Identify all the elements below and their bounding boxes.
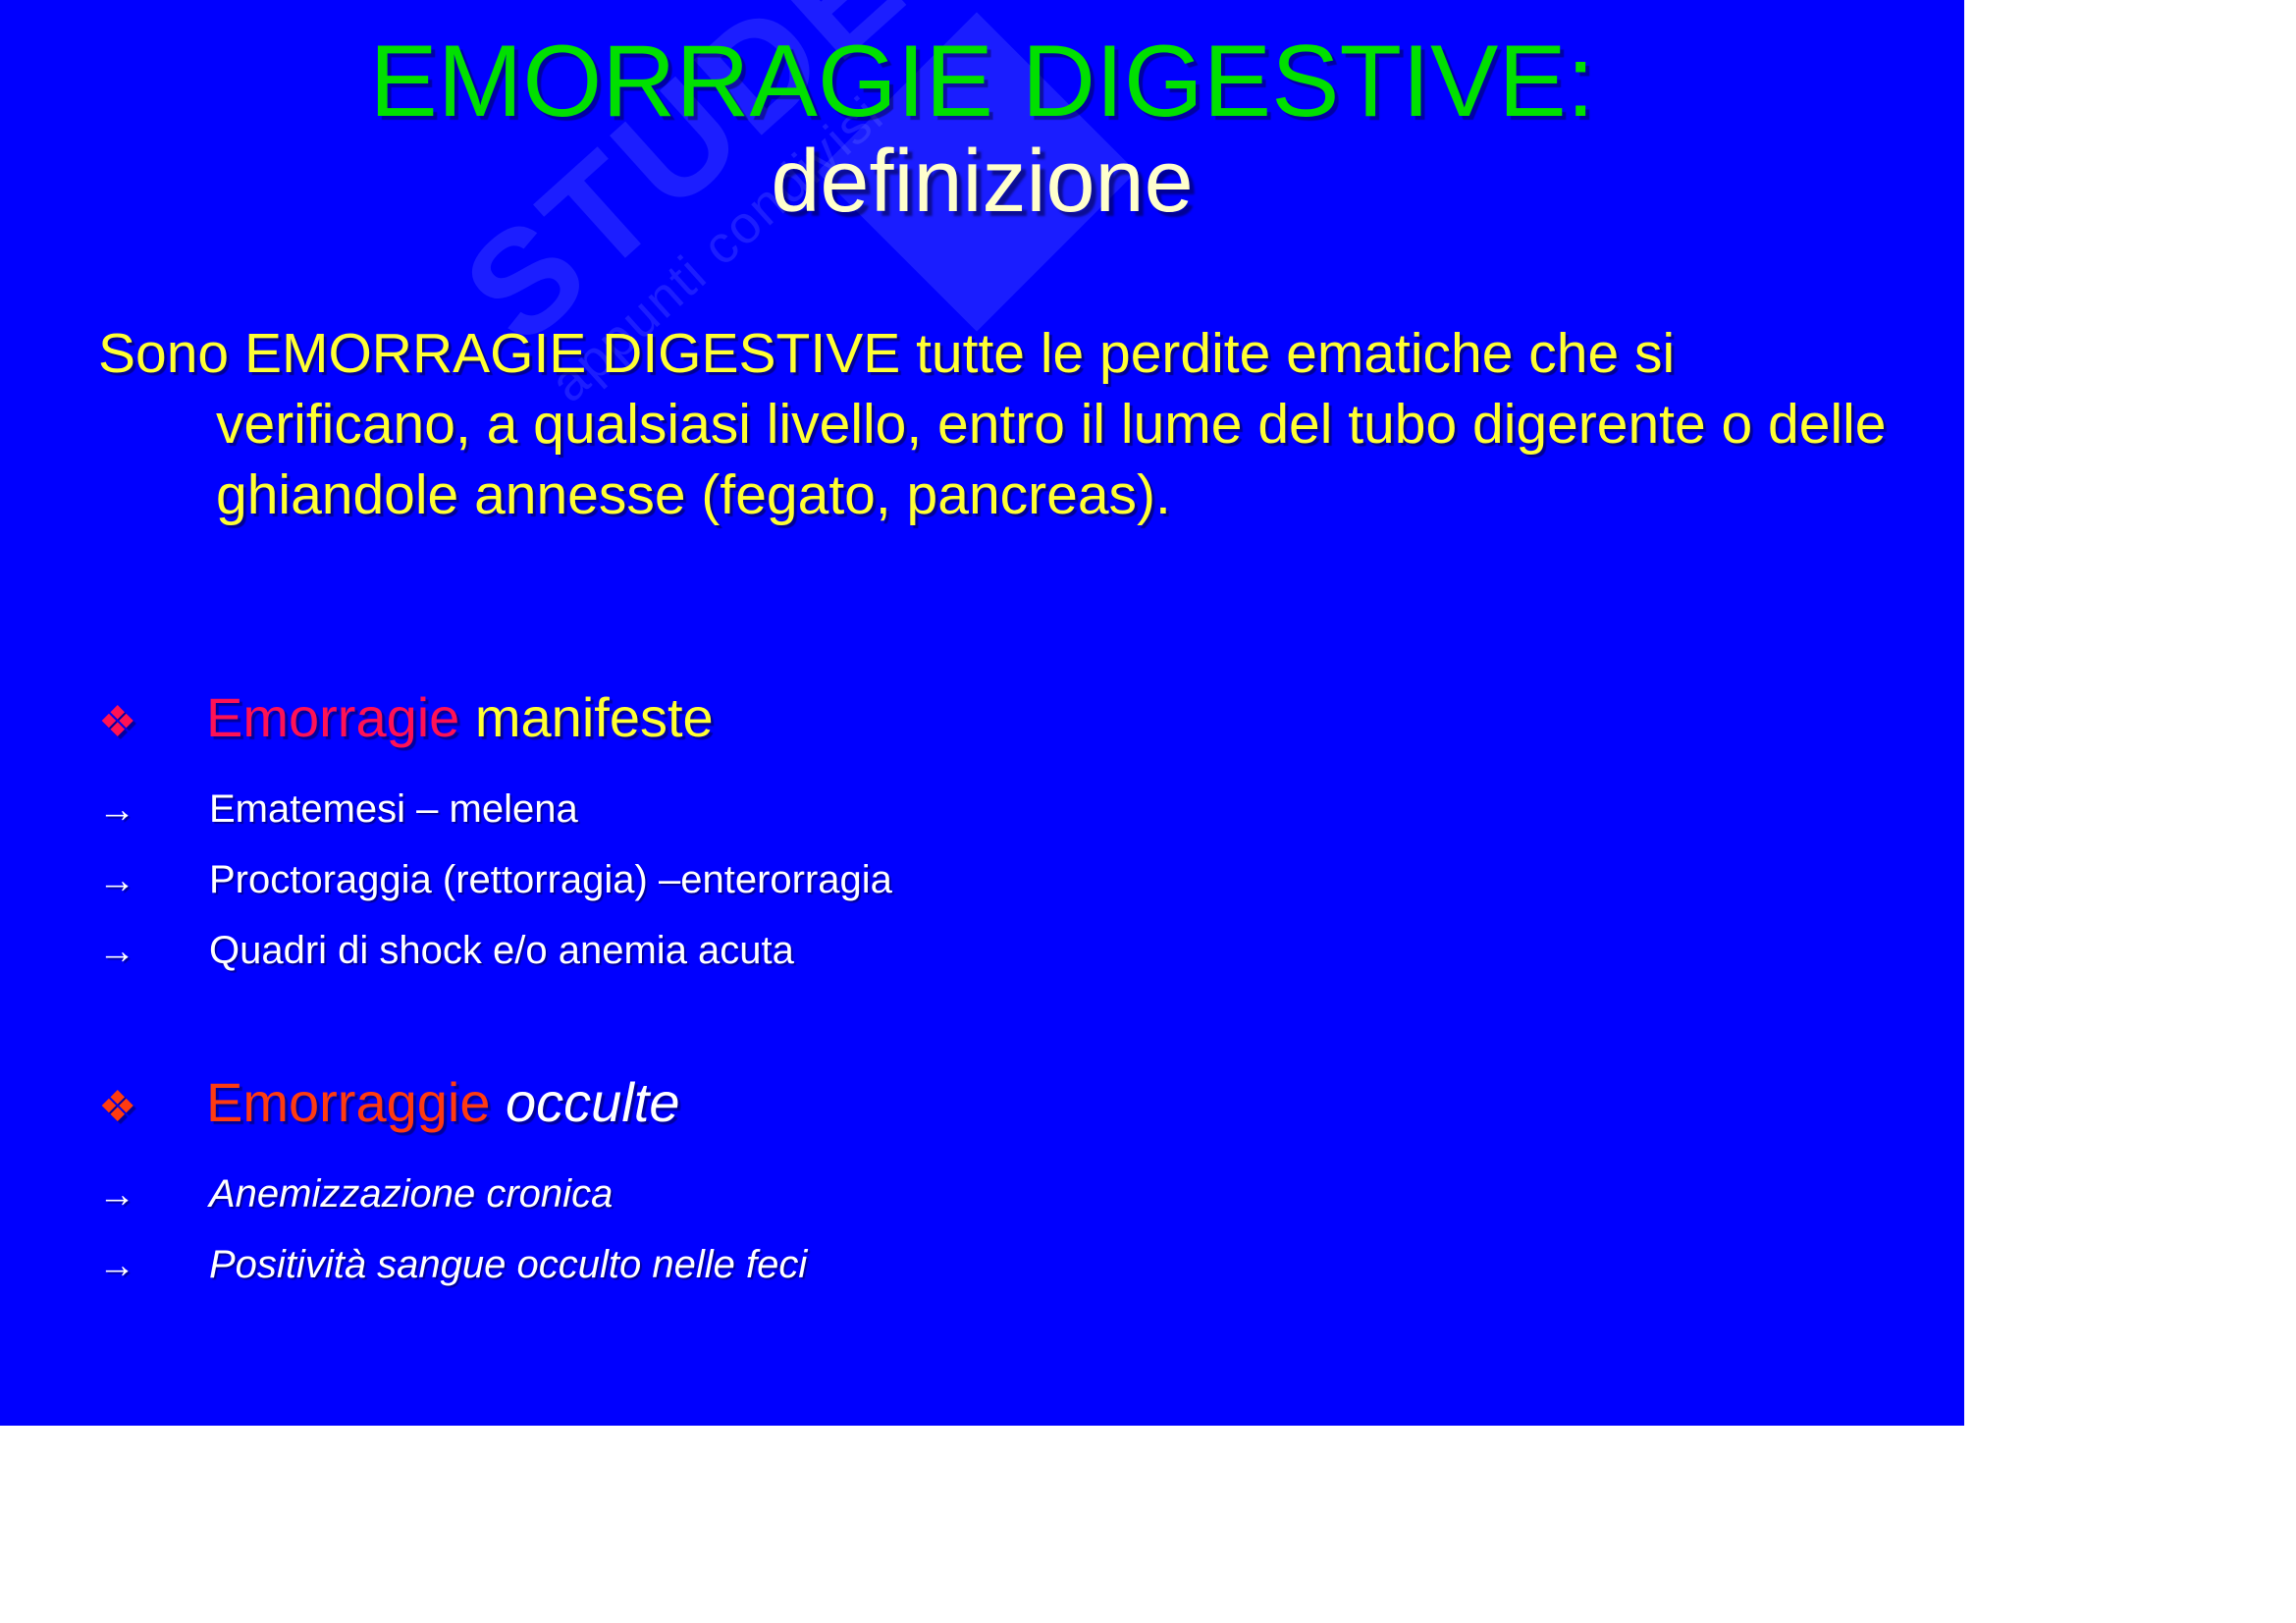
arrow-bullet-icon: → bbox=[98, 1175, 209, 1217]
bullet-segment-occulte: occulte bbox=[490, 1071, 679, 1133]
definition-paragraph-text: Sono EMORRAGIE DIGESTIVE tutte le perdit… bbox=[98, 322, 1886, 526]
arrow-bullet-icon: → bbox=[98, 861, 209, 902]
definition-paragraph: Sono EMORRAGIE DIGESTIVE tutte le perdit… bbox=[98, 319, 1944, 530]
bullet-item-manifeste: ❖Emorragie manifeste bbox=[98, 687, 1865, 748]
sub-bullet-label: Proctoraggia (rettorragia) –enterorragia bbox=[209, 858, 892, 901]
title-line-2: definizione bbox=[0, 137, 1964, 228]
sub-bullet-label: Quadri di shock e/o anemia acuta bbox=[209, 929, 794, 972]
sub-bullet-anemizzazione-cronica: →Anemizzazione cronica bbox=[98, 1172, 1895, 1217]
arrow-bullet-icon: → bbox=[98, 790, 209, 832]
sub-bullet-label: Positività sangue occulto nelle feci bbox=[209, 1243, 807, 1286]
arrow-bullet-icon: → bbox=[98, 932, 209, 973]
sub-bullet-label: Ematemesi – melena bbox=[209, 787, 578, 831]
title-line-1: EMORRAGIE DIGESTIVE: bbox=[0, 29, 1964, 134]
diamond-bullet-icon: ❖ bbox=[98, 1084, 206, 1131]
sub-bullet-ematemesi-melena: →Ematemesi – melena bbox=[98, 787, 1895, 832]
bullet-segment-emorraggie: Emorraggie bbox=[206, 1071, 490, 1133]
bullet-segment-emorragie: Emorragie bbox=[206, 686, 459, 748]
sub-bullet-positivita-sangue-occulto: →Positività sangue occulto nelle feci bbox=[98, 1243, 1895, 1287]
diamond-bullet-icon: ❖ bbox=[98, 699, 206, 746]
slide-title: EMORRAGIE DIGESTIVE: definizione bbox=[0, 29, 1964, 228]
sub-bullet-quadri-shock: →Quadri di shock e/o anemia acuta bbox=[98, 929, 1895, 973]
presentation-slide: STUDENTI appunti condivisi EMORRAGIE DIG… bbox=[0, 0, 1964, 1426]
bullet-segment-manifeste: manifeste bbox=[459, 686, 713, 748]
sub-bullet-label: Anemizzazione cronica bbox=[209, 1172, 613, 1216]
sub-bullet-proctoraggia: →Proctoraggia (rettorragia) –enterorragi… bbox=[98, 858, 1895, 902]
bullet-item-occulte: ❖Emorraggie occulte bbox=[98, 1072, 1865, 1133]
arrow-bullet-icon: → bbox=[98, 1246, 209, 1287]
